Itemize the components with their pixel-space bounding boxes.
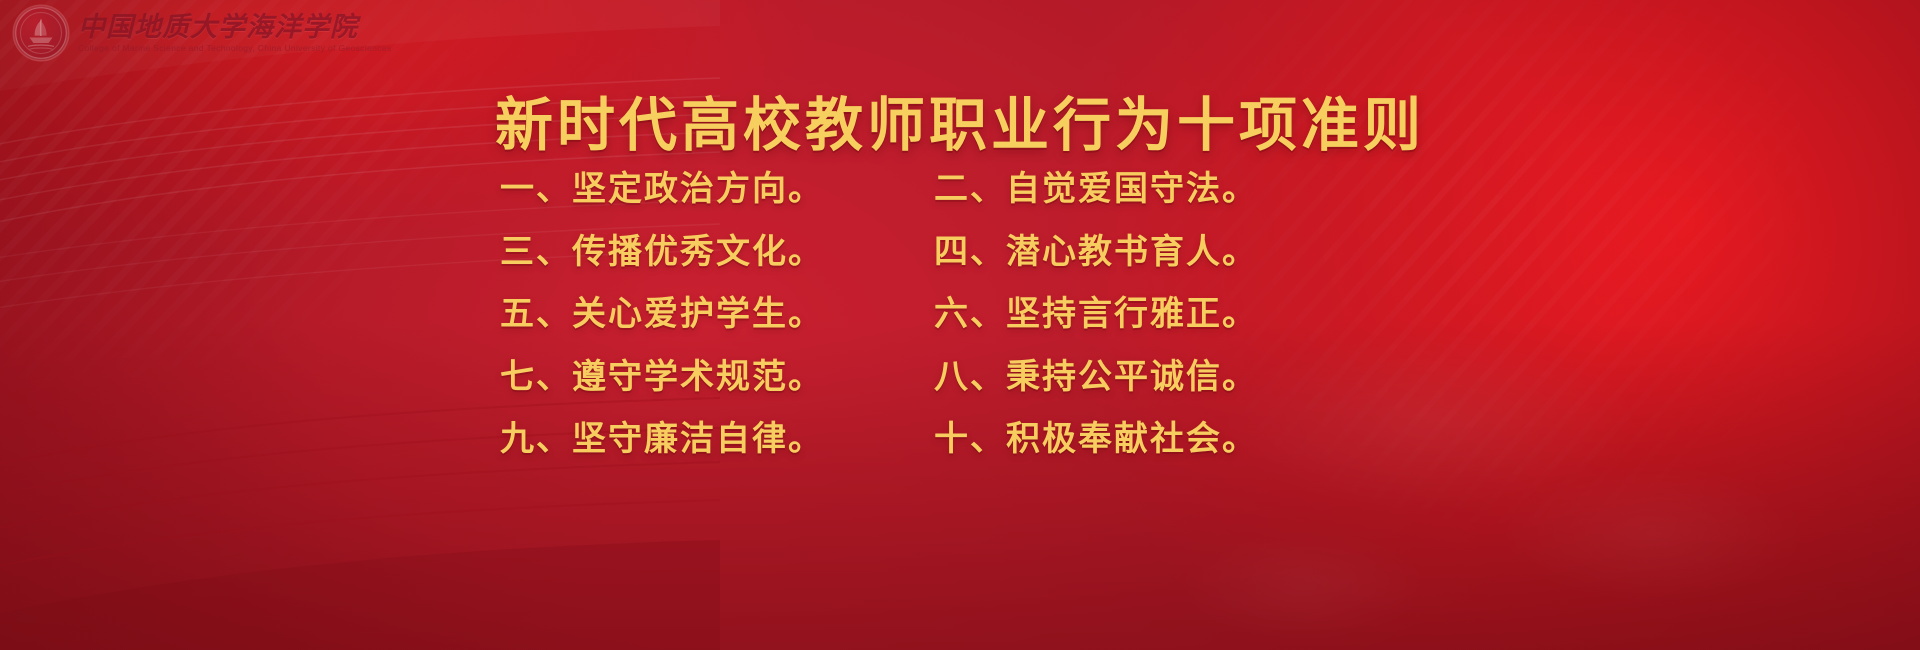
principle-item-10: 十、积极奉献社会。 bbox=[900, 418, 1320, 462]
principle-item-5: 五、关心爱护学生。 bbox=[500, 293, 900, 337]
sailing-ship-seal-icon bbox=[14, 6, 68, 60]
principle-item-8: 八、秉持公平诚信。 bbox=[900, 356, 1320, 400]
principle-item-6: 六、坚持言行雅正。 bbox=[900, 293, 1320, 337]
principle-item-3: 三、传播优秀文化。 bbox=[500, 231, 900, 275]
banner-root: 中国地质大学海洋学院 College of Marine Science and… bbox=[0, 0, 1920, 650]
principle-item-1: 一、坚定政治方向。 bbox=[500, 168, 900, 212]
principles-list: 一、坚定政治方向。 二、自觉爱国守法。 三、传播优秀文化。 四、潜心教书育人。 … bbox=[500, 168, 1320, 462]
principle-item-7: 七、遵守学术规范。 bbox=[500, 356, 900, 400]
principle-item-2: 二、自觉爱国守法。 bbox=[900, 168, 1320, 212]
university-name-english: College of Marine Science and Technology… bbox=[78, 43, 391, 53]
principle-item-4: 四、潜心教书育人。 bbox=[900, 231, 1320, 275]
university-name-chinese: 中国地质大学海洋学院 bbox=[78, 13, 391, 41]
university-logo: 中国地质大学海洋学院 College of Marine Science and… bbox=[14, 6, 391, 60]
banner-title: 新时代高校教师职业行为十项准则 bbox=[0, 78, 1920, 162]
principle-item-9: 九、坚守廉洁自律。 bbox=[500, 418, 900, 462]
university-logo-text: 中国地质大学海洋学院 College of Marine Science and… bbox=[78, 13, 391, 52]
